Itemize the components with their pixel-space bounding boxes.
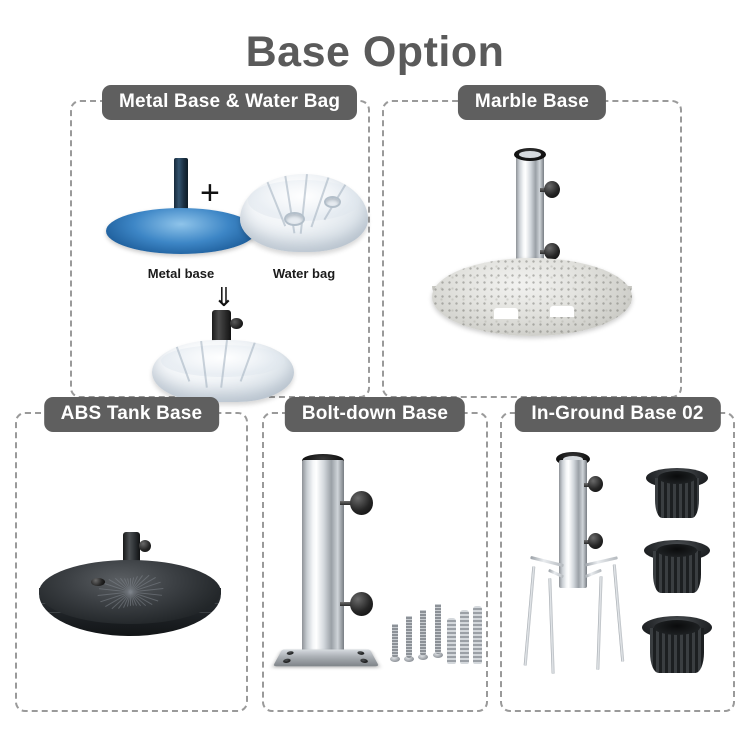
panel-title-abs-tank-base: ABS Tank Base (44, 397, 220, 432)
panel-title-bolt-down-base: Bolt-down Base (285, 397, 465, 432)
bolt-down-base-icon (278, 454, 398, 694)
marble-base-icon (432, 146, 636, 376)
fill-plug-icon (91, 578, 105, 586)
panel-body-abs-tank-base (17, 440, 246, 710)
panel-body-marble-base (384, 128, 680, 396)
knob-icon (139, 540, 151, 552)
water-bag-icon (238, 150, 370, 262)
plus-separator-icon: + (200, 176, 220, 210)
panel-in-ground-base-02[interactable]: In-Ground Base 02 (500, 412, 735, 712)
page-title: Base Option (0, 26, 750, 78)
panel-metal-base-water-bag[interactable]: Metal Base & Water Bag Metal base + Wate… (70, 100, 370, 398)
adapter-sleeves-icon (640, 468, 718, 678)
knob-icon (350, 592, 373, 616)
panel-marble-base[interactable]: Marble Base (382, 100, 682, 398)
knob-icon (588, 476, 603, 492)
knob-icon (544, 181, 560, 198)
knob-icon (350, 491, 373, 515)
caption-water-bag: Water bag (238, 266, 370, 281)
in-ground-spike-base-icon (518, 452, 648, 700)
abs-tank-base-icon (39, 524, 225, 674)
screws-and-anchors-icon (390, 592, 482, 684)
caption-metal-base: Metal base (106, 266, 256, 281)
panel-abs-tank-base[interactable]: ABS Tank Base (15, 412, 248, 712)
panel-title-in-ground-base-02: In-Ground Base 02 (514, 397, 720, 432)
panel-title-marble-base: Marble Base (458, 85, 606, 120)
panel-body-bolt-down-base (264, 440, 486, 710)
metal-base-icon (106, 150, 256, 262)
panel-bolt-down-base[interactable]: Bolt-down Base (262, 412, 488, 712)
panel-body-in-ground-base-02 (502, 440, 733, 710)
panel-title-metal-base-water-bag: Metal Base & Water Bag (102, 85, 357, 120)
panel-body-metal-base-water-bag: Metal base + Water bag ⇓ (72, 128, 368, 396)
knob-icon (588, 533, 603, 549)
down-arrow-icon: ⇓ (213, 284, 235, 310)
assembled-water-bag-base-icon (150, 310, 296, 402)
